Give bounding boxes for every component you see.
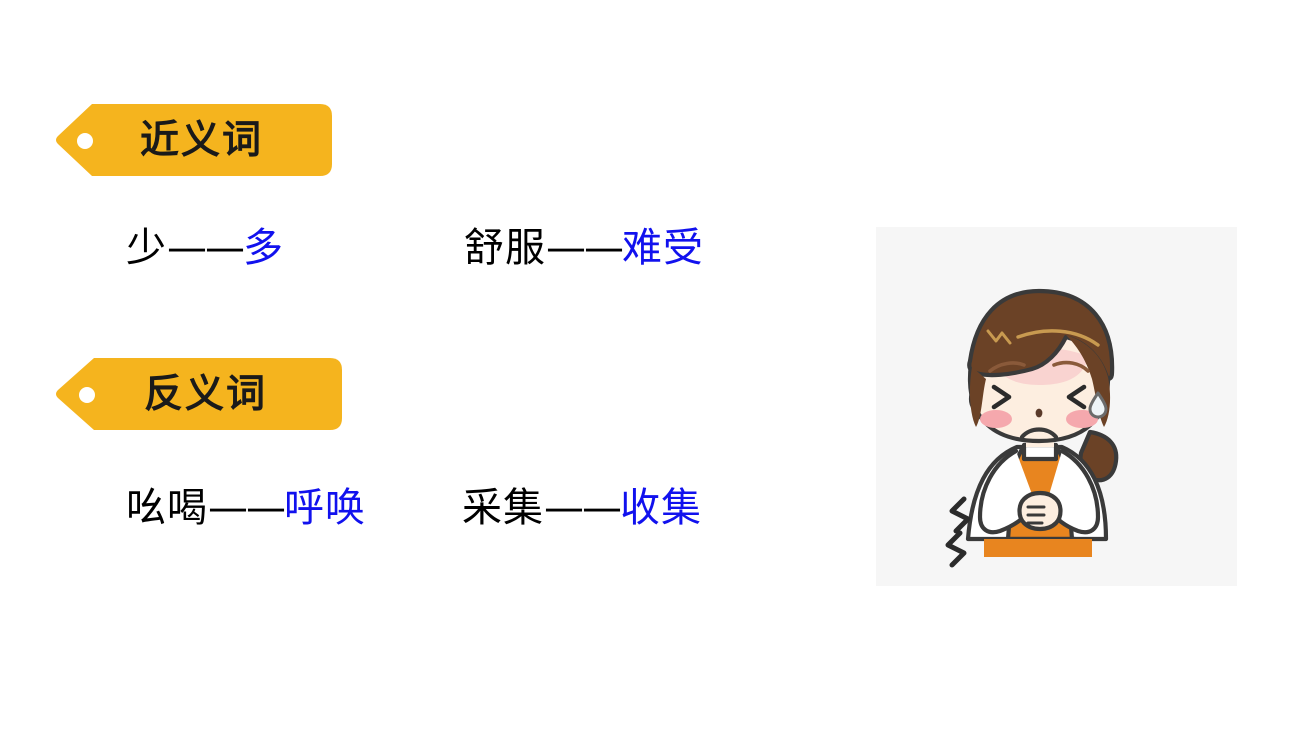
word-pair-shao-duo: 少 —— 多 (126, 228, 284, 268)
word-pair-row-antonyms: 吆喝 —— 呼唤 采集 —— 收集 (126, 488, 702, 528)
word-right: 呼唤 (284, 488, 366, 528)
pair-dash: —— (544, 488, 620, 528)
section-tag-synonym-label: 近义词 (140, 121, 263, 160)
girl-stomachache-drawing (876, 227, 1237, 586)
pair-dash: —— (208, 488, 284, 528)
section-tag-antonym-label: 反义词 (144, 375, 267, 414)
word-right: 难受 (622, 228, 704, 268)
tag-hole-synonym (77, 133, 93, 149)
word-pair-shufu-nanshou: 舒服 —— 难受 (464, 228, 704, 268)
word-left: 吆喝 (126, 488, 208, 528)
word-pair-yaohe-huhuan: 吆喝 —— 呼唤 (126, 488, 366, 528)
word-left: 舒服 (464, 228, 546, 268)
section-tag-antonym: 反义词 (56, 358, 342, 430)
slide-canvas: 近义词 少 —— 多 舒服 —— 难受 反义词 吆喝 —— 呼唤 采集 (0, 0, 1296, 729)
nose (1036, 409, 1043, 418)
section-tag-synonym: 近义词 (56, 104, 332, 176)
collar (1024, 445, 1056, 459)
word-right: 多 (243, 228, 284, 268)
word-pair-caiji-shouji: 采集 —— 收集 (462, 488, 702, 528)
word-left: 采集 (462, 488, 544, 528)
tag-hole-antonym (79, 387, 95, 403)
pair-dash: —— (546, 228, 622, 268)
word-pair-row-synonyms: 少 —— 多 舒服 —— 难受 (126, 228, 704, 268)
blush-left (980, 410, 1012, 428)
illustration-girl-with-stomachache (876, 227, 1237, 586)
word-right: 收集 (620, 488, 702, 528)
word-left: 少 (126, 228, 167, 268)
pair-dash: —— (167, 228, 243, 268)
